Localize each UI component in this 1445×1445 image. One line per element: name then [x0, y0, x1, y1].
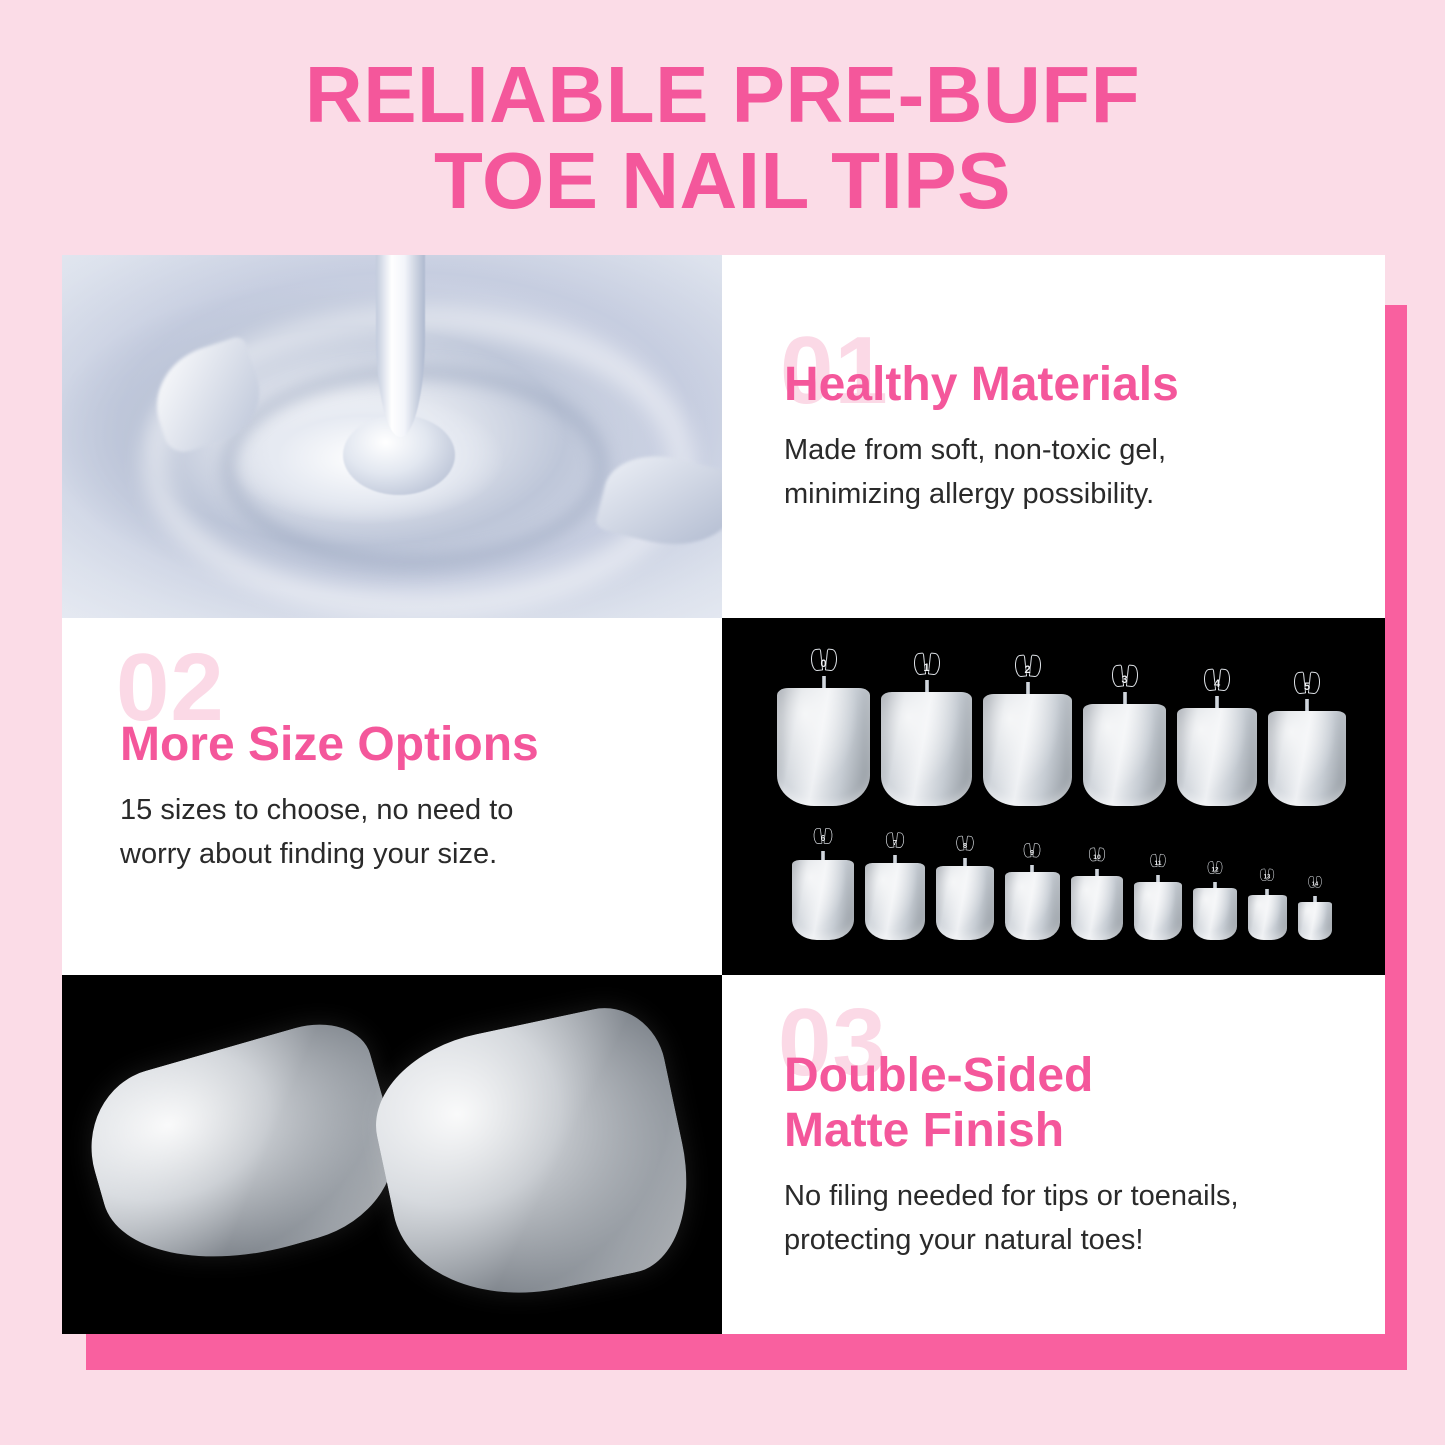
- butterfly-tab-icon: 13: [1260, 869, 1274, 885]
- nail-tip-body: [1248, 895, 1287, 940]
- butterfly-tab-icon: 7: [885, 832, 903, 853]
- matte-nail-tips-photo: [62, 975, 722, 1334]
- nail-tip-size-label: 1: [923, 662, 929, 674]
- nail-tip-size-5: 5: [1268, 672, 1346, 806]
- feature-2-panel: 02 More Size Options 15 sizes to choose,…: [62, 618, 722, 975]
- nail-tip-size-label: 5: [1304, 681, 1310, 693]
- feature-3-title: Double-Sided Matte Finish: [784, 1048, 1325, 1158]
- nail-tip-size-3: 3: [1083, 665, 1166, 806]
- feature-3-description: No filing needed for tips or toenails, p…: [784, 1174, 1325, 1262]
- nail-tip-size-0: 0: [777, 649, 870, 806]
- nail-tip-size-9: 9: [1005, 838, 1060, 940]
- nail-tip-size-chart-photo: 012345 67891011121314: [722, 618, 1385, 975]
- feature-1-panel: 01 Healthy Materials Made from soft, non…: [722, 255, 1385, 618]
- nail-tip-body: [1177, 708, 1257, 806]
- nail-tip-body: [792, 860, 854, 940]
- feature-3-description-line-2: protecting your natural toes!: [784, 1218, 1325, 1262]
- nail-tip-size-label: 11: [1154, 860, 1161, 867]
- feature-1-title: Healthy Materials: [784, 357, 1325, 412]
- nail-tip-size-12: 12: [1193, 855, 1237, 940]
- nail-tip-size-label: 4: [1214, 678, 1220, 690]
- butterfly-tab-icon: 8: [956, 836, 973, 856]
- nail-tip-body: [1071, 876, 1123, 940]
- nail-tip-size-6: 6: [792, 824, 854, 939]
- butterfly-tab-icon: 1: [914, 653, 940, 683]
- feature-2-description: 15 sizes to choose, no need to worry abo…: [120, 788, 652, 876]
- nail-tip-size-2: 2: [983, 655, 1072, 806]
- nail-tip-size-label: 10: [1093, 853, 1101, 860]
- nail-tip-size-label: 2: [1024, 664, 1030, 676]
- nail-tip-size-10: 10: [1071, 842, 1123, 940]
- nail-tip-size-11: 11: [1134, 848, 1182, 939]
- feature-2-description-line-2: worry about finding your size.: [120, 832, 652, 876]
- nail-tip-size-label: 12: [1211, 866, 1218, 873]
- accent-bar-bottom: [86, 1334, 1407, 1370]
- nail-tip-size-14: 14: [1298, 869, 1332, 939]
- butterfly-tab-icon: 11: [1150, 854, 1165, 872]
- butterfly-tab-icon: 10: [1088, 848, 1104, 867]
- feature-1-description-line-1: Made from soft, non-toxic gel,: [784, 428, 1325, 472]
- feature-3-media: [62, 975, 722, 1334]
- nail-tip-size-label: 7: [892, 839, 896, 847]
- nail-tip-size-1: 1: [881, 653, 972, 806]
- butterfly-tab-icon: 5: [1294, 672, 1320, 702]
- feature-3-title-line-1: Double-Sided: [784, 1048, 1325, 1103]
- feature-2-media: 012345 67891011121314: [722, 618, 1385, 975]
- feature-3-title-line-2: Matte Finish: [784, 1103, 1325, 1158]
- butterfly-tab-icon: 0: [811, 649, 837, 679]
- title-line-1: RELIABLE PRE-BUFF: [0, 52, 1445, 138]
- nail-tip-size-7: 7: [865, 828, 925, 940]
- nail-tip-body: [777, 688, 870, 806]
- nail-tip-body: [1005, 872, 1060, 940]
- gel-swirl-photo: [62, 255, 722, 618]
- butterfly-tab-icon: 4: [1204, 669, 1230, 699]
- butterfly-tab-icon: 9: [1024, 843, 1041, 862]
- feature-2-title: More Size Options: [120, 717, 652, 772]
- nail-tip-body: [1134, 882, 1182, 940]
- nail-tip-size-label: 13: [1264, 874, 1271, 881]
- nail-tip-size-13: 13: [1248, 862, 1287, 940]
- size-chart-row-top: 012345: [764, 649, 1359, 806]
- size-chart-row-bottom: 67891011121314: [764, 824, 1359, 939]
- butterfly-tab-icon: 3: [1112, 665, 1138, 695]
- butterfly-tab-icon: 14: [1308, 876, 1322, 892]
- matte-tip-right: [361, 997, 707, 1319]
- accent-bar-right: [1385, 305, 1407, 1370]
- nail-tip-size-label: 8: [962, 842, 966, 850]
- nail-tip-size-label: 0: [820, 658, 826, 670]
- nail-tip-body: [1298, 902, 1332, 940]
- feature-grid: 01 Healthy Materials Made from soft, non…: [62, 255, 1385, 1334]
- nail-tip-body: [1083, 704, 1166, 806]
- feature-1-media: [62, 255, 722, 618]
- feature-1-description: Made from soft, non-toxic gel, minimizin…: [784, 428, 1325, 516]
- nail-tip-body: [865, 863, 925, 940]
- butterfly-tab-icon: 12: [1207, 861, 1222, 878]
- feature-2-description-line-1: 15 sizes to choose, no need to: [120, 788, 652, 832]
- feature-3-panel: 03 Double-Sided Matte Finish No filing n…: [722, 975, 1385, 1334]
- butterfly-tab-icon: 6: [813, 829, 832, 851]
- nail-tip-size-label: 14: [1311, 881, 1317, 887]
- nail-tip-body: [1268, 711, 1346, 806]
- nail-tip-size-label: 9: [1030, 849, 1034, 857]
- nail-tip-body: [1193, 888, 1237, 940]
- page-title: RELIABLE PRE-BUFF TOE NAIL TIPS: [0, 52, 1445, 224]
- feature-1-description-line-2: minimizing allergy possibility.: [784, 472, 1325, 516]
- nail-tip-body: [881, 692, 972, 806]
- nail-tip-size-4: 4: [1177, 669, 1257, 806]
- nail-tip-size-label: 6: [820, 835, 824, 844]
- title-line-2: TOE NAIL TIPS: [0, 138, 1445, 224]
- nail-tip-body: [936, 866, 994, 940]
- butterfly-tab-icon: 2: [1015, 655, 1041, 685]
- nail-tip-size-8: 8: [936, 831, 994, 939]
- nail-tip-size-label: 3: [1121, 674, 1127, 686]
- feature-3-description-line-1: No filing needed for tips or toenails,: [784, 1174, 1325, 1218]
- nail-tip-body: [983, 694, 1072, 806]
- matte-tip-left: [72, 1010, 415, 1292]
